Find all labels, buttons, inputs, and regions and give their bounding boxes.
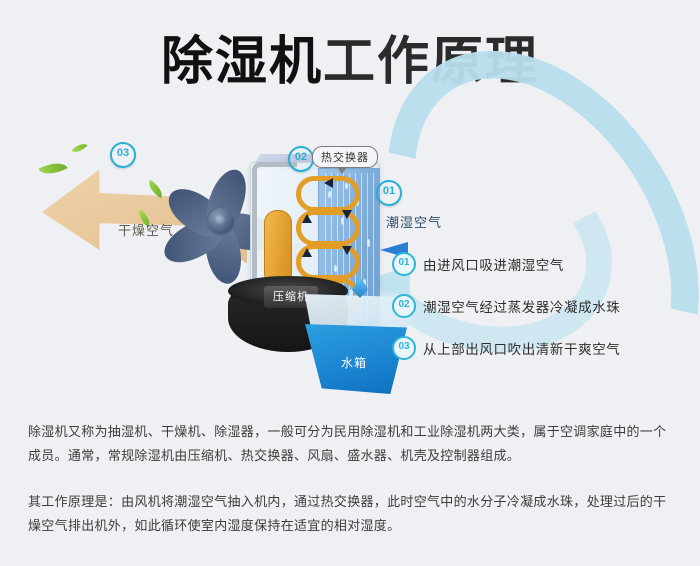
water-tank-label: 水箱 [324,354,384,371]
legend-text: 由进风口吸进潮湿空气 [423,254,564,274]
flow-arrow-down [342,210,352,219]
humid-air-label: 潮湿空气 [386,212,442,231]
diagram-badge-01: 01 [376,180,402,206]
page-title: 除湿机工作原理 [0,30,700,94]
leaf-icon [71,140,87,156]
legend-badge: 01 [392,252,416,276]
description-paragraph-1: 除湿机又称为抽湿机、干燥机、除湿器，一般可分为民用除湿机和工业除湿机两大类，属于… [28,420,676,468]
dry-air-label: 干燥空气 [118,220,174,239]
legend-badge: 03 [392,336,416,360]
legend-item: 02 潮湿空气经过蒸发器冷凝成水珠 [392,295,692,316]
description-paragraph-2: 其工作原理是：由风机将潮湿空气抽入机内，通过热交换器，此时空气中的水分子冷凝成水… [28,490,676,538]
legend-item: 03 从上部出风口吹出清新干爽空气 [392,337,692,358]
flow-arrow-up [302,248,312,257]
receiver-tank [264,210,292,286]
description-block: 除湿机又称为抽湿机、干燥机、除湿器，一般可分为民用除湿机和工业除湿机两大类，属于… [28,420,676,538]
flow-arrow-down [342,246,352,255]
heat-exchanger-callout: 热交换器 [312,146,378,168]
diagram-badge-03: 03 [110,142,136,168]
legend-text: 潮湿空气经过蒸发器冷凝成水珠 [423,296,620,316]
fan-hub [206,206,236,236]
legend-text: 从上部出风口吹出清新干爽空气 [423,338,620,358]
leaf-icon [38,157,67,181]
legend-list: 01 由进风口吸进潮湿空气 02 潮湿空气经过蒸发器冷凝成水珠 03 从上部出风… [392,253,692,379]
page-title-part1: 除湿机 [161,33,323,91]
flow-arrow-left [324,178,333,188]
legend-item: 01 由进风口吸进潮湿空气 [392,253,692,274]
poster-root: 除湿机工作原理 [0,0,700,566]
diagram-badge-02: 02 [288,146,314,172]
flow-arrow-up [302,214,312,223]
legend-badge: 02 [392,294,416,318]
